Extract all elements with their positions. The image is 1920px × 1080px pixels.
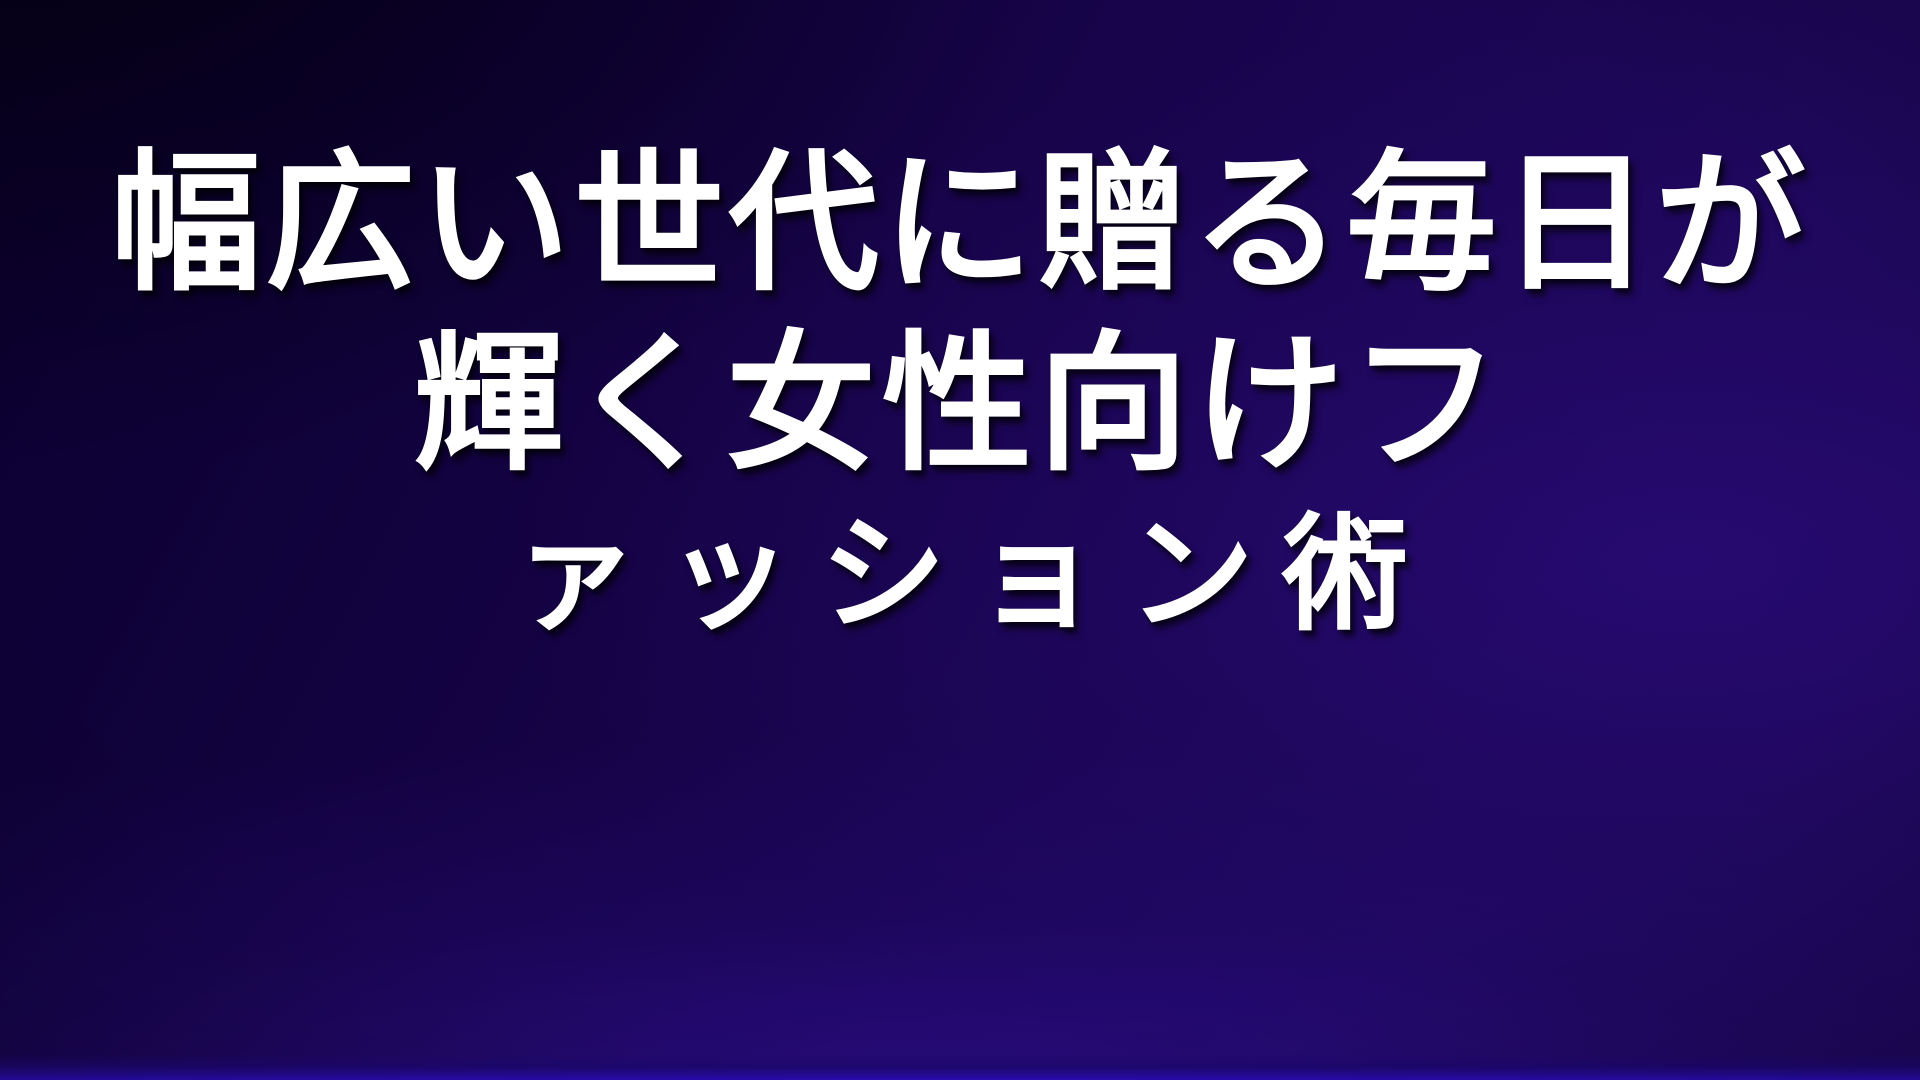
title-text-block: 幅広い世代に贈る毎日が 輝く女性向けフ ァッション術 <box>0 0 1920 1080</box>
title-line-1: 幅広い世代に贈る毎日が <box>111 148 1810 300</box>
title-line-2: 輝く女性向けフ <box>414 330 1506 480</box>
title-line-3: ァッション術 <box>484 512 1436 638</box>
title-card-canvas: 幅広い世代に贈る毎日が 輝く女性向けフ ァッション術 <box>0 0 1920 1080</box>
